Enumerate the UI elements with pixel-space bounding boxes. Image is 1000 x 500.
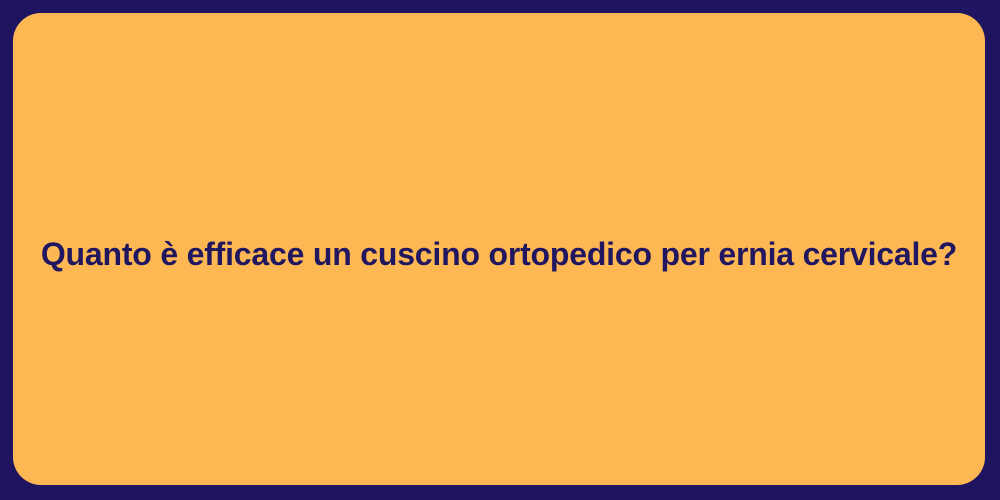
page-canvas: Quanto è efficace un cuscino ortopedico … [0, 0, 1000, 500]
question-card-content: Quanto è efficace un cuscino ortopedico … [13, 234, 985, 274]
question-card: Quanto è efficace un cuscino ortopedico … [13, 13, 985, 485]
question-title: Quanto è efficace un cuscino ortopedico … [41, 234, 957, 274]
